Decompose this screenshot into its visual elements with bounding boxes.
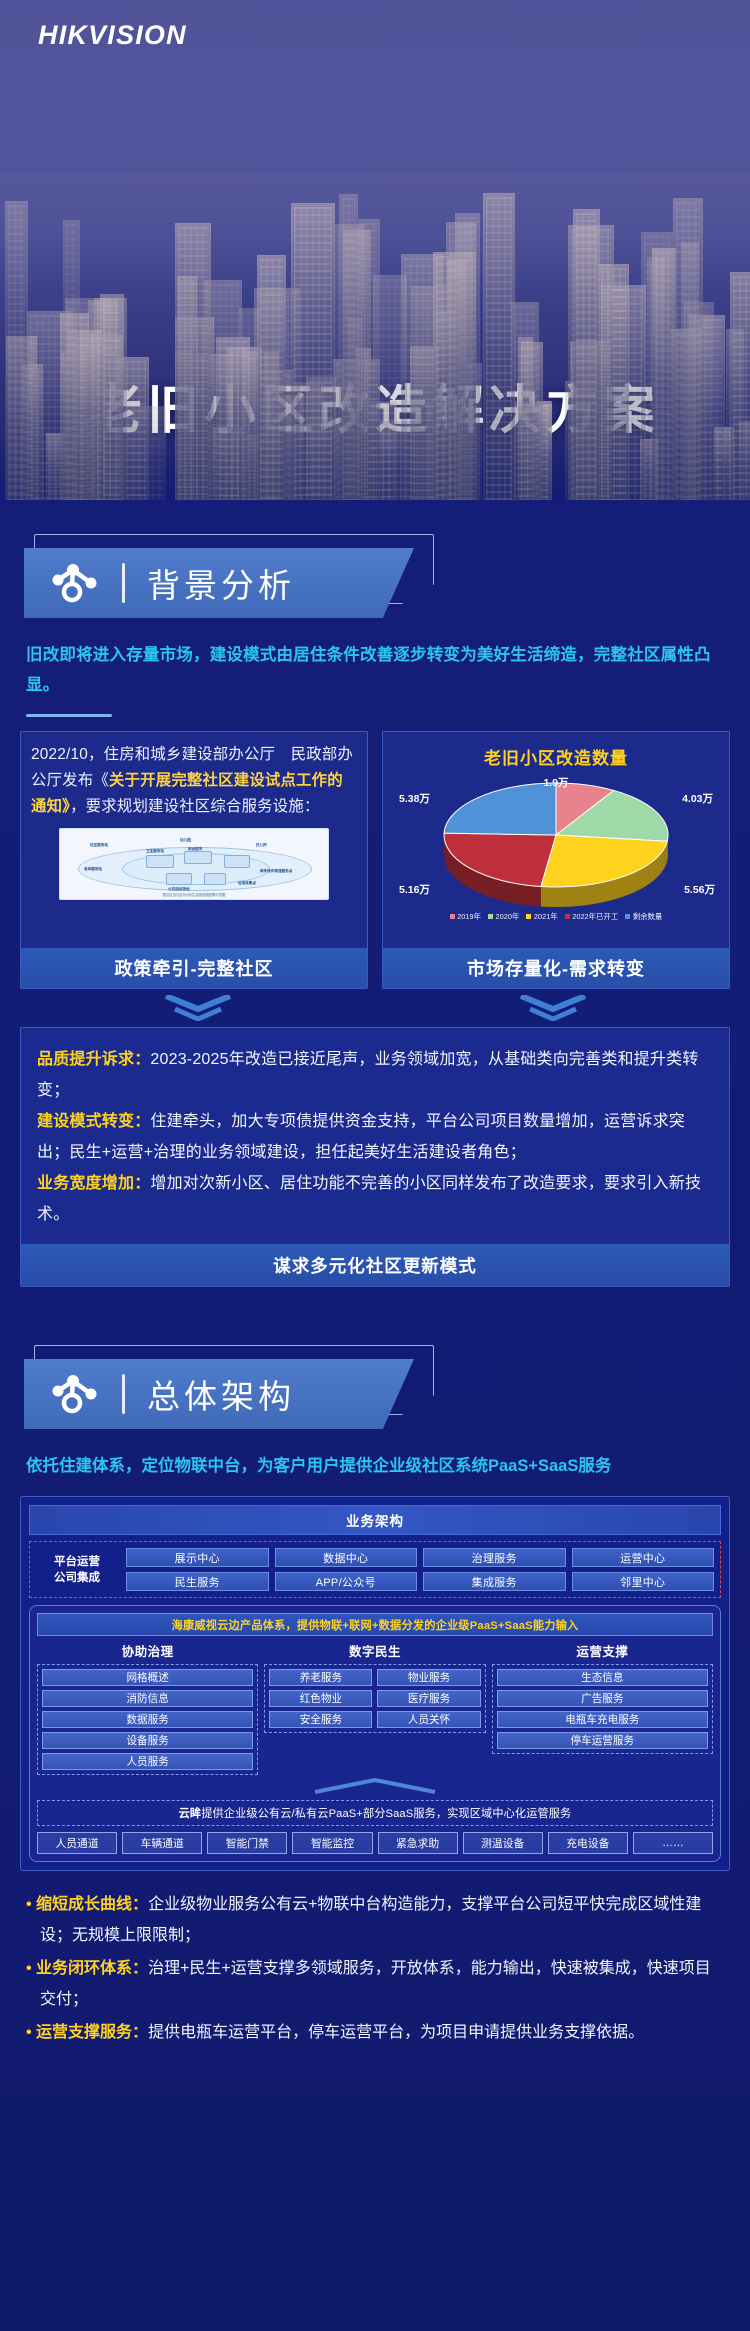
service-item[interactable]: 数据服务	[42, 1711, 253, 1728]
section-header-background-analysis: 背景分析	[24, 548, 434, 618]
service-item[interactable]: 生态信息	[497, 1669, 708, 1686]
chevron-left	[20, 995, 375, 1021]
cards-row: 2022/10，住房和城乡建设部办公厅 民政部办公厅发布《关于开展完整社区建设试…	[20, 731, 730, 989]
building	[291, 203, 335, 500]
service-item[interactable]: 医疗服务	[377, 1690, 480, 1707]
benefit-key-1: 业务闭环体系：	[36, 1960, 148, 1977]
service-column-box: 生态信息广告服务电瓶车充电服务停车运营服务	[492, 1664, 713, 1754]
insight-item-2: 业务宽度增加：增加对次新小区、居住功能不完善的小区同样发布了改造要求，要求引入新…	[37, 1168, 713, 1230]
service-column-box: 网格概述消防信息数据服务设备服务人员服务	[37, 1664, 258, 1775]
pie-label-2020: 4.03万	[682, 791, 713, 806]
chart-legend: 2019年2020年2021年2022年已开工剩余数量	[393, 911, 719, 922]
service-item[interactable]: 网格概述	[42, 1669, 253, 1686]
legend-label: 2021年	[534, 911, 558, 922]
platform-tile[interactable]: 治理服务	[423, 1548, 566, 1567]
platform-tile[interactable]: 展示中心	[126, 1548, 269, 1567]
chevron-down-icon	[163, 995, 233, 1021]
service-item[interactable]: 电瓶车充电服务	[497, 1711, 708, 1728]
bullet-dot: •	[26, 1896, 36, 1913]
section-header-overall-architecture: 总体架构	[24, 1359, 434, 1429]
service-column-header: 运营支撑	[492, 1641, 713, 1660]
thumb-node-1	[146, 855, 174, 868]
benefit-key-0: 缩短成长曲线：	[36, 1896, 148, 1913]
hero-banner: HIKVISION 老旧小区改造解决方案	[0, 0, 750, 500]
service-item[interactable]: 停车运营服务	[497, 1732, 708, 1749]
legend-label: 2019年	[457, 911, 481, 922]
insight-key-2: 业务宽度增加：	[37, 1175, 150, 1192]
platform-tile[interactable]: 民生服务	[126, 1572, 269, 1591]
policy-text-2: ，要求规划建设社区综合服务设施：	[70, 798, 319, 815]
legend-item: 2019年	[450, 911, 481, 922]
building	[455, 213, 479, 500]
device-item[interactable]: 测温设备	[463, 1832, 543, 1854]
thumb-node-2	[184, 851, 212, 864]
panel-footer: 谋求多元化社区更新模式	[21, 1244, 729, 1286]
pie-label-2021: 5.56万	[684, 882, 715, 897]
building	[5, 201, 28, 500]
pie-label-2022: 5.16万	[399, 882, 430, 897]
service-item[interactable]: 物业服务	[377, 1669, 480, 1686]
cloud-banner: 海康威视云边产品体系，提供物联+联网+数据分发的企业级PaaS+SaaS能力输入	[37, 1613, 713, 1636]
chevron-right	[375, 995, 730, 1021]
service-item[interactable]: 安全服务	[269, 1711, 372, 1728]
building	[63, 220, 80, 500]
legend-swatch	[488, 914, 493, 919]
thumb-node-5	[204, 873, 226, 885]
header-plate: 总体架构	[24, 1359, 414, 1429]
device-item[interactable]: 紧急求助	[378, 1832, 458, 1854]
building	[673, 198, 703, 500]
section-title: 总体架构	[147, 1370, 295, 1418]
legend-label: 2022年已开工	[572, 911, 618, 922]
benefits-list: • 缩短成长曲线：企业级物业服务公有云+物联中台构造能力，支撑平台公司短平快完成…	[26, 1889, 724, 2048]
pie-slice-剩余数量	[444, 783, 556, 835]
thumb-caption: 居住区及社区5分钟生活圈设施配置示意图	[60, 892, 328, 897]
platform-label: 平台运营 公司集成	[36, 1554, 118, 1586]
service-item[interactable]: 人员关怀	[377, 1711, 480, 1728]
thumb-node-3	[224, 855, 250, 868]
chevron-up-icon	[310, 1778, 440, 1794]
building	[641, 232, 673, 500]
platform-label-line1: 平台运营	[36, 1554, 118, 1570]
service-column-header: 数字民生	[264, 1641, 485, 1660]
platform-tiles: 展示中心数据中心治理服务运营中心民生服务APP/公众号集成服务邻里中心	[126, 1548, 714, 1591]
section2-lede: 依托住建体系，定位物联中台，为客户用户提供企业级社区系统PaaS+SaaS服务	[26, 1453, 724, 1480]
thumb-label-2: 托儿所	[256, 843, 267, 848]
building	[730, 272, 750, 500]
thumb-node-4	[166, 873, 192, 885]
building	[100, 294, 123, 500]
legend-swatch	[625, 914, 630, 919]
thumb-label-4: 卫生服务站	[146, 849, 164, 854]
header-plate: 背景分析	[24, 548, 414, 618]
header-divider	[122, 563, 125, 603]
platform-tile[interactable]: 邻里中心	[572, 1572, 715, 1591]
thumb-label-6: 邮件快件寄递服务点	[260, 869, 292, 874]
hikvision-logo: HIKVISION	[38, 20, 187, 51]
chevron-down-icon	[518, 995, 588, 1021]
service-item[interactable]: 养老服务	[269, 1669, 372, 1686]
policy-card-caption: 政策牵引-完整社区	[21, 948, 367, 988]
legend-swatch	[565, 914, 570, 919]
building	[175, 223, 211, 500]
service-column-运营支撑: 运营支撑生态信息广告服务电瓶车充电服务停车运营服务	[492, 1641, 713, 1775]
insight-item-1: 建设模式转变：住建牵头，加大专项债提供资金支持，平台公司项目数量增加，运营诉求突…	[37, 1106, 713, 1168]
building	[358, 219, 380, 500]
platform-tile[interactable]: APP/公众号	[275, 1572, 418, 1591]
platform-integration-row: 平台运营 公司集成 展示中心数据中心治理服务运营中心民生服务APP/公众号集成服…	[29, 1541, 721, 1598]
service-column-协助治理: 协助治理网格概述消防信息数据服务设备服务人员服务	[37, 1641, 258, 1775]
list-item: • 业务闭环体系：治理+民生+运营支撑多领域服务，开放体系，能力输出，快速被集成…	[26, 1953, 724, 2015]
cloud2-text: 提供企业级公有云/私有云PaaS+部分SaaS服务，实现区域中心化运管服务	[201, 1805, 571, 1821]
device-item[interactable]: ……	[633, 1832, 713, 1854]
building	[573, 209, 600, 500]
bullet-dot: •	[26, 1960, 36, 1977]
thumb-label-0: 社区服务站	[90, 843, 108, 848]
device-item[interactable]: 车辆通道	[122, 1832, 202, 1854]
thumb-label-7: 垃圾收集点	[238, 881, 256, 886]
bullet-dot: •	[26, 2024, 36, 2041]
network-node-icon	[52, 1374, 98, 1414]
market-chart-card: 老旧小区改造数量 1.9万 4.03万 5.56万 5.16万 5.38万 20…	[382, 731, 730, 989]
service-item[interactable]: 红色物业	[269, 1690, 372, 1707]
platform-label-line2: 公司集成	[36, 1570, 118, 1586]
device-item[interactable]: 充电设备	[548, 1832, 628, 1854]
device-item[interactable]: 人员通道	[37, 1832, 117, 1854]
architecture-title: 业务架构	[29, 1505, 721, 1535]
pie-label-remaining: 5.38万	[399, 791, 430, 806]
policy-text: 2022/10，住房和城乡建设部办公厅 民政部办公厅发布《关于开展完整社区建设试…	[31, 742, 357, 820]
device-item[interactable]: 智能监控	[292, 1832, 372, 1854]
legend-item: 2022年已开工	[565, 911, 619, 922]
network-node-icon	[52, 563, 98, 603]
header-divider	[122, 1374, 125, 1414]
device-item[interactable]: 智能门禁	[207, 1832, 287, 1854]
legend-item: 2020年	[488, 911, 519, 922]
section-title: 背景分析	[147, 559, 295, 607]
upward-arrow	[37, 1778, 713, 1799]
service-item[interactable]: 消防信息	[42, 1690, 253, 1707]
legend-swatch	[526, 914, 531, 919]
building	[257, 255, 286, 500]
insights-panel: 品质提升诉求：2023-2025年改造已接近尾声，业务领域加宽，从基础类向完善类…	[20, 1027, 730, 1287]
poster-page: HIKVISION 老旧小区改造解决方案 背景分析 旧改即将进入存量市场，建设模…	[0, 0, 750, 2090]
cloud2-bold: 云眸	[179, 1805, 202, 1821]
service-column-box: 养老服务物业服务红色物业医疗服务安全服务人员关怀	[264, 1664, 485, 1733]
legend-label: 剩余数量	[633, 911, 663, 922]
architecture-diagram: 业务架构 平台运营 公司集成 展示中心数据中心治理服务运营中心民生服务APP/公…	[20, 1496, 730, 1871]
platform-tile[interactable]: 数据中心	[275, 1548, 418, 1567]
pie-svg	[386, 773, 726, 909]
thumb-label-5: 综合超市	[188, 847, 202, 852]
market-card-caption: 市场存量化-需求转变	[383, 948, 729, 988]
benefit-text-2: 提供电瓶车运营平台，停车运营平台，为项目申请提供业务支撑依据。	[148, 2024, 644, 2041]
chart-title: 老旧小区改造数量	[393, 742, 719, 769]
thumb-label-1: 幼儿园	[180, 838, 191, 843]
service-item[interactable]: 广告服务	[497, 1690, 708, 1707]
insight-key-0: 品质提升诉求：	[37, 1051, 150, 1068]
accent-rule	[26, 714, 112, 717]
legend-item: 2021年	[526, 911, 557, 922]
cloud-capability-box: 海康威视云边产品体系，提供物联+联网+数据分发的企业级PaaS+SaaS能力输入…	[29, 1605, 721, 1862]
list-item: • 运营支撑服务：提供电瓶车运营平台，停车运营平台，为项目申请提供业务支撑依据。	[26, 2017, 724, 2048]
platform-tile[interactable]: 集成服务	[423, 1572, 566, 1591]
device-row: 人员通道车辆通道智能门禁智能监控紧急求助测温设备充电设备……	[37, 1832, 713, 1854]
service-columns: 协助治理网格概述消防信息数据服务设备服务人员服务数字民生养老服务物业服务红色物业…	[37, 1641, 713, 1775]
policy-card-body: 2022/10，住房和城乡建设部办公厅 民政部办公厅发布《关于开展完整社区建设试…	[31, 742, 357, 938]
chevron-row	[20, 995, 730, 1021]
service-column-数字民生: 数字民生养老服务物业服务红色物业医疗服务安全服务人员关怀	[264, 1641, 485, 1775]
service-item[interactable]: 人员服务	[42, 1753, 253, 1770]
pie-area: 1.9万 4.03万 5.56万 5.16万 5.38万	[393, 769, 719, 909]
policy-card: 2022/10，住房和城乡建设部办公厅 民政部办公厅发布《关于开展完整社区建设试…	[20, 731, 368, 989]
thumb-label-3: 老年服务站	[84, 867, 102, 872]
pie-chart: 老旧小区改造数量 1.9万 4.03万 5.56万 5.16万 5.38万 20…	[393, 742, 719, 938]
legend-swatch	[450, 914, 455, 919]
building	[483, 193, 516, 500]
legend-label: 2020年	[496, 911, 520, 922]
list-item: • 缩短成长曲线：企业级物业服务公有云+物联中台构造能力，支撑平台公司短平快完成…	[26, 1889, 724, 1951]
building	[339, 194, 359, 500]
cloud-service-banner: 云眸提供企业级公有云/私有云PaaS+部分SaaS服务，实现区域中心化运管服务	[37, 1800, 713, 1826]
service-item[interactable]: 设备服务	[42, 1732, 253, 1749]
insight-key-1: 建设模式转变：	[37, 1113, 150, 1130]
section1-lede: 旧改即将进入存量市场，建设模式由居住条件改善逐步转变为美好生活缔造，完整社区属性…	[26, 640, 724, 700]
insight-item-0: 品质提升诉求：2023-2025年改造已接近尾声，业务领域加宽，从基础类向完善类…	[37, 1044, 713, 1106]
page-tail	[0, 2050, 750, 2090]
benefit-key-2: 运营支撑服务：	[36, 2024, 148, 2041]
pie-label-2019: 1.9万	[543, 775, 568, 790]
community-diagram-thumbnail: 社区服务站 幼儿园 托儿所 老年服务站 卫生服务站 综合超市 邮件快件寄递服务点…	[59, 828, 329, 900]
platform-tile[interactable]: 运营中心	[572, 1548, 715, 1567]
legend-item: 剩余数量	[625, 911, 662, 922]
service-column-header: 协助治理	[37, 1641, 258, 1660]
